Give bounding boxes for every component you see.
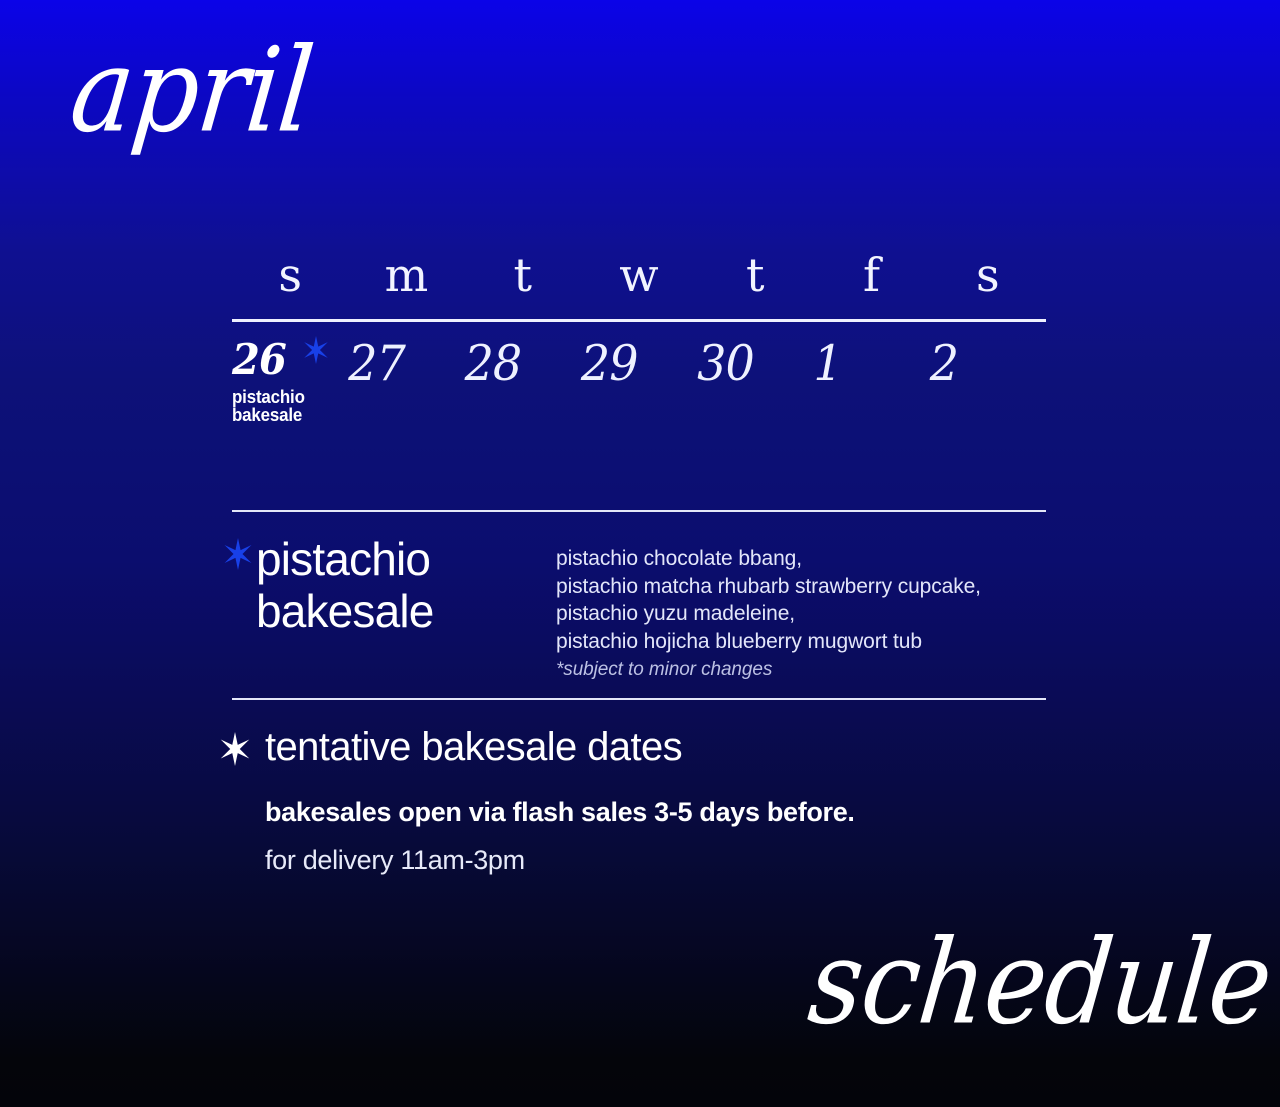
day-note: pistachiobakesale [232, 388, 335, 425]
section-divider-bottom [232, 698, 1046, 700]
day-number: 30 [697, 338, 754, 387]
calendar-day-28[interactable]: 28 [465, 340, 581, 436]
six-point-star-icon [218, 732, 252, 766]
footer-title: schedule [804, 924, 1276, 1040]
calendar-week-row: 26 pistachiobakesale 27 28 29 30 [232, 340, 1046, 436]
day-header-mon: m [348, 250, 464, 311]
day-number: 1 [813, 338, 841, 387]
day-header-thu: t [697, 250, 813, 311]
day-header-sun: s [232, 250, 348, 311]
list-item: pistachio chocolate bbang, [556, 545, 1056, 573]
flash-sale-notice: bakesales open via flash sales 3-5 days … [218, 796, 1058, 828]
calendar: s m t w t f s 26 pistachiobakesale 27 [232, 250, 1046, 436]
day-number: 29 [581, 338, 638, 387]
bakesale-heading: pistachio bakesale [222, 534, 542, 638]
day-number: 28 [465, 338, 522, 387]
day-number: 27 [348, 338, 405, 387]
bakesale-item-list: pistachio chocolate bbang, pistachio mat… [556, 545, 1056, 683]
day-header-fri: f [813, 250, 929, 311]
calendar-day-30[interactable]: 30 [697, 340, 813, 436]
month-title: april [66, 32, 318, 148]
calendar-header-rule [232, 319, 1046, 322]
delivery-window: for delivery 11am-3pm [218, 844, 1058, 876]
day-number: 2 [930, 338, 958, 387]
day-header-wed: w [581, 250, 697, 311]
six-point-star-icon [222, 538, 254, 570]
calendar-day-1[interactable]: 1 [813, 340, 929, 436]
tentative-heading: tentative bakesale dates [218, 724, 1058, 770]
calendar-day-27[interactable]: 27 [348, 340, 464, 436]
day-header-sat: s [930, 250, 1046, 311]
six-point-star-icon [302, 336, 330, 364]
schedule-poster: april s m t w t f s 26 pistachiobakesale [0, 0, 1280, 1107]
section-divider-top [232, 510, 1046, 512]
list-item: pistachio matcha rhubarb strawberry cupc… [556, 573, 1056, 601]
list-item: pistachio hojicha blueberry mugwort tub [556, 628, 1056, 656]
calendar-day-26[interactable]: 26 pistachiobakesale [232, 340, 348, 436]
calendar-day-29[interactable]: 29 [581, 340, 697, 436]
day-header-tue: t [465, 250, 581, 311]
bakesale-footnote: *subject to minor changes [556, 658, 1056, 683]
list-item: pistachio yuzu madeleine, [556, 600, 1056, 628]
bakesale-heading-group: pistachio bakesale [222, 534, 542, 638]
tentative-dates-section: tentative bakesale dates bakesales open … [218, 724, 1058, 877]
day-number: 26 [232, 338, 286, 380]
calendar-day-headers: s m t w t f s [232, 250, 1046, 311]
calendar-day-2[interactable]: 2 [930, 340, 1046, 436]
